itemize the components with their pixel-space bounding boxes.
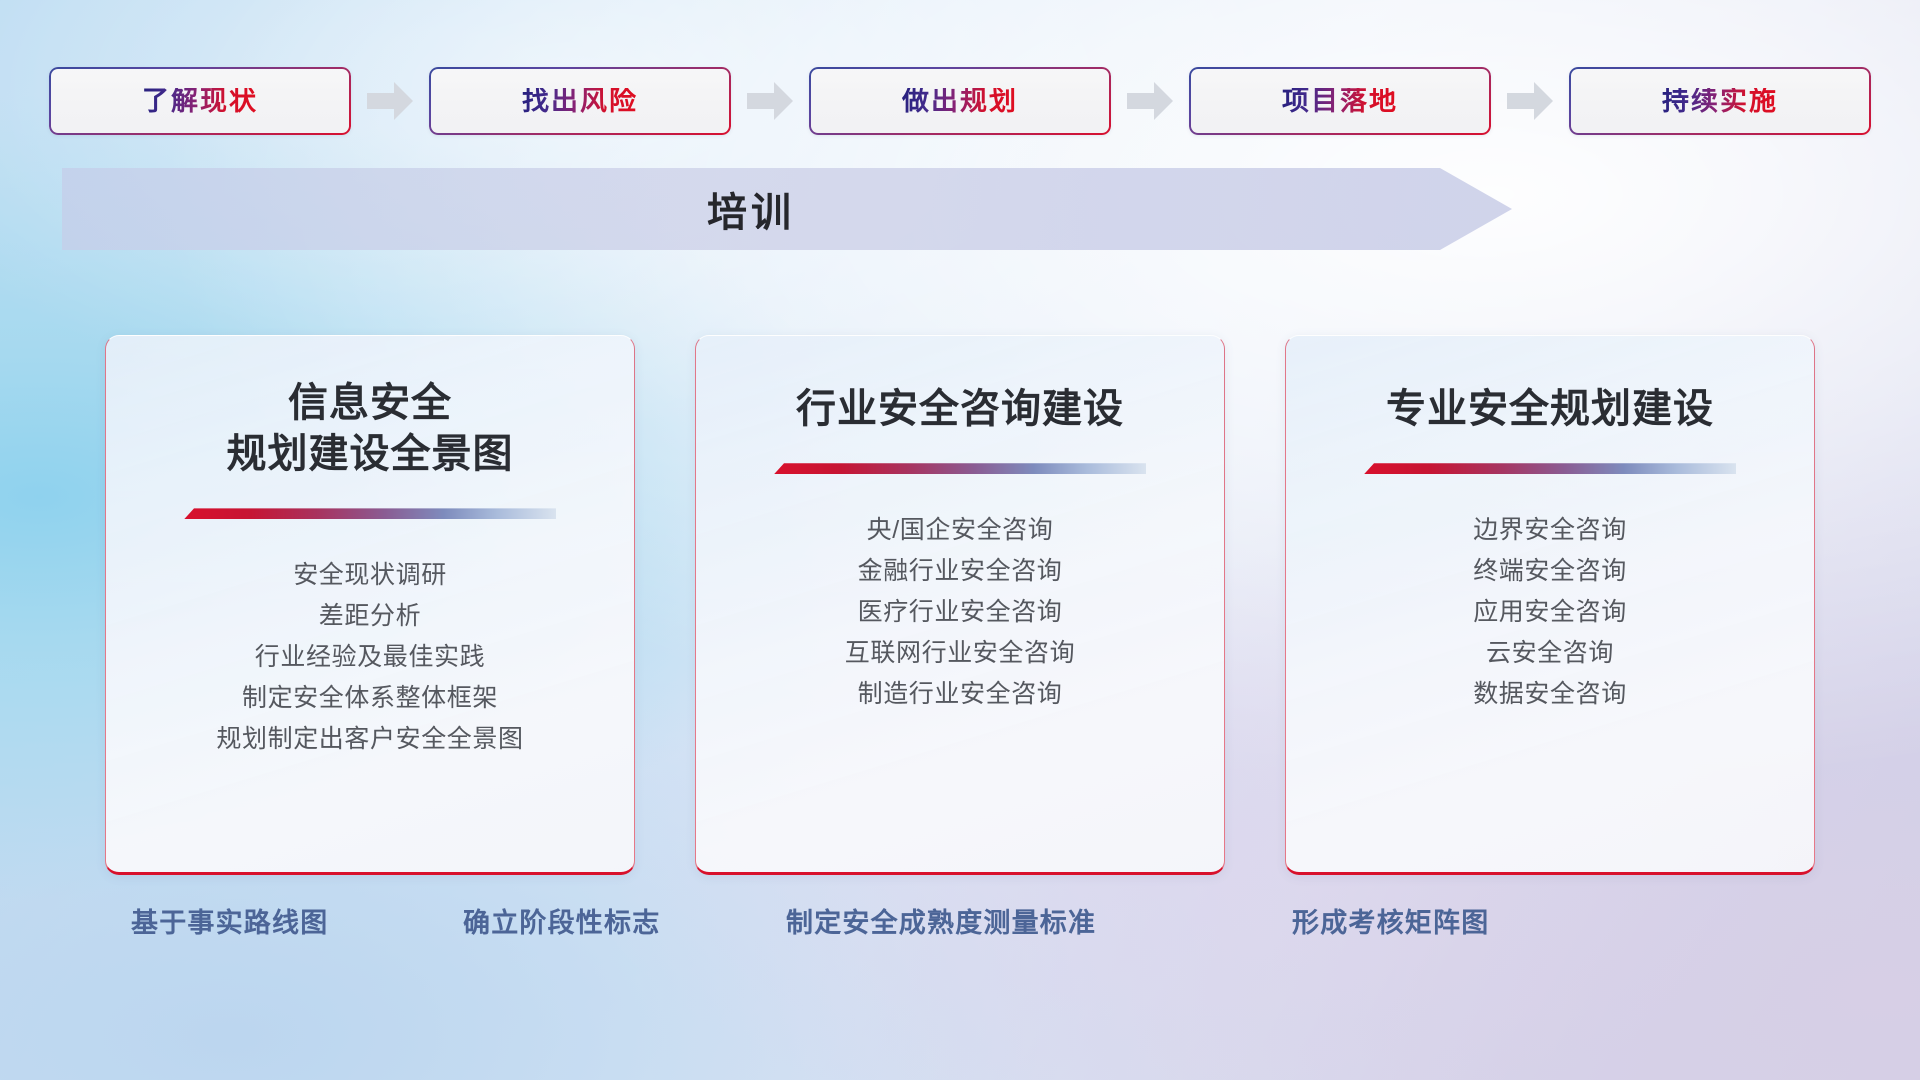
service-card-list: 边界安全咨询终端安全咨询应用安全咨询云安全咨询数据安全咨询 [1286, 510, 1814, 715]
footnote-label-3: 制定安全成熟度测量标准 [786, 898, 1096, 942]
arrow-right-icon [367, 82, 413, 120]
service-card-divider [774, 463, 1146, 474]
process-step-5[interactable]: 持续实施 [1569, 67, 1871, 135]
process-step-1[interactable]: 了解现状 [49, 67, 351, 135]
process-step-label: 持续实施 [1662, 88, 1778, 115]
card-row: 信息安全规划建设全景图安全现状调研差距分析行业经验及最佳实践制定安全体系整体框架… [0, 335, 1920, 790]
service-card-list-item[interactable]: 应用安全咨询 [1473, 592, 1627, 633]
process-step-2[interactable]: 找出风险 [429, 67, 731, 135]
process-step-label: 找出风险 [522, 88, 638, 115]
service-card-3[interactable]: 专业安全规划建设边界安全咨询终端安全咨询应用安全咨询云安全咨询数据安全咨询 [1285, 335, 1815, 875]
service-card-list-item[interactable]: 规划制定出客户安全全景图 [216, 719, 523, 760]
service-card-1[interactable]: 信息安全规划建设全景图安全现状调研差距分析行业经验及最佳实践制定安全体系整体框架… [105, 335, 635, 875]
service-card-list-item[interactable]: 制定安全体系整体框架 [242, 678, 498, 719]
process-step-4[interactable]: 项目落地 [1189, 67, 1491, 135]
footnote-row: 基于事实路线图确立阶段性标志制定安全成熟度测量标准形成考核矩阵图 [0, 898, 1920, 958]
service-card-list-item[interactable]: 央/国企安全咨询 [867, 510, 1054, 551]
footnote-label-4: 形成考核矩阵图 [1292, 898, 1489, 942]
service-card-divider [1364, 463, 1736, 474]
service-card-title: 信息安全规划建设全景图 [203, 378, 538, 480]
process-step-row: 了解现状找出风险做出规划项目落地持续实施 [0, 60, 1920, 142]
service-card-title-line: 行业安全咨询建设 [796, 387, 1124, 431]
process-step-label: 做出规划 [902, 88, 1018, 115]
arrow-right-icon [747, 82, 793, 120]
service-card-title: 专业安全规划建设 [1362, 384, 1738, 435]
service-card-title-line: 专业安全规划建设 [1386, 387, 1714, 431]
service-card-list-item[interactable]: 边界安全咨询 [1473, 510, 1627, 551]
service-card-list-item[interactable]: 行业经验及最佳实践 [255, 637, 485, 678]
service-card-title-line: 规划建设全景图 [227, 432, 514, 476]
service-card-list-item[interactable]: 金融行业安全咨询 [858, 551, 1063, 592]
footnote-label-1: 基于事实路线图 [131, 898, 328, 942]
service-card-list-item[interactable]: 医疗行业安全咨询 [858, 592, 1063, 633]
service-card-list-item[interactable]: 数据安全咨询 [1473, 674, 1627, 715]
service-card-title: 行业安全咨询建设 [772, 384, 1148, 435]
service-card-list-item[interactable]: 安全现状调研 [293, 555, 447, 596]
process-step-3[interactable]: 做出规划 [809, 67, 1111, 135]
service-card-list-item[interactable]: 差距分析 [319, 596, 421, 637]
training-banner: 培训 [62, 168, 1512, 250]
training-banner-title: 培训 [62, 168, 1440, 250]
service-card-2[interactable]: 行业安全咨询建设央/国企安全咨询金融行业安全咨询医疗行业安全咨询互联网行业安全咨… [695, 335, 1225, 875]
service-card-list-item[interactable]: 终端安全咨询 [1473, 551, 1627, 592]
service-card-list: 安全现状调研差距分析行业经验及最佳实践制定安全体系整体框架规划制定出客户安全全景… [106, 555, 634, 760]
service-card-list-item[interactable]: 制造行业安全咨询 [858, 674, 1063, 715]
process-step-label: 项目落地 [1282, 88, 1398, 115]
service-card-list: 央/国企安全咨询金融行业安全咨询医疗行业安全咨询互联网行业安全咨询制造行业安全咨… [696, 510, 1224, 715]
arrow-right-icon [1127, 82, 1173, 120]
service-card-list-item[interactable]: 云安全咨询 [1486, 633, 1614, 674]
service-card-title-line: 信息安全 [288, 381, 452, 425]
service-card-list-item[interactable]: 互联网行业安全咨询 [845, 633, 1075, 674]
arrow-right-icon [1507, 82, 1553, 120]
footnote-label-2: 确立阶段性标志 [463, 898, 660, 942]
service-card-divider [184, 508, 556, 519]
process-step-label: 了解现状 [142, 88, 258, 115]
